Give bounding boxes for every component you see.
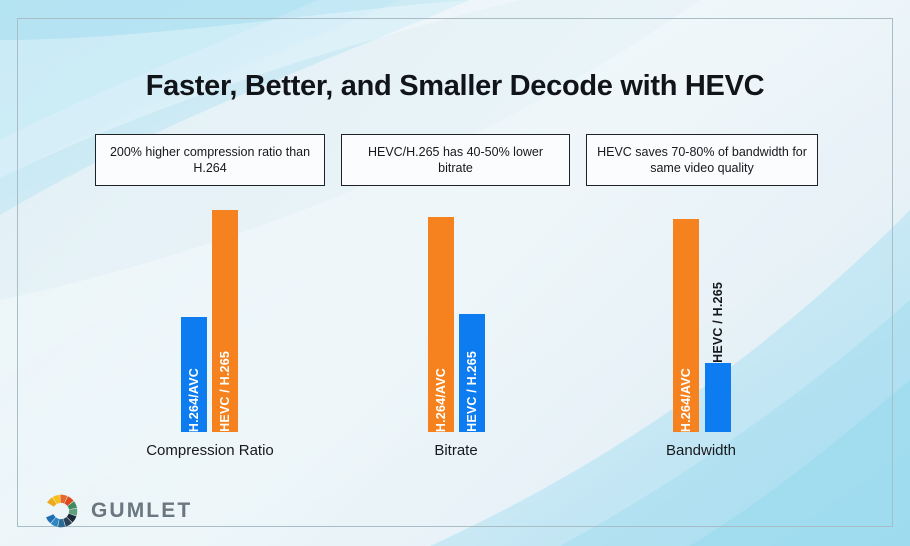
bar-label: HEVC / H.265 xyxy=(465,344,479,432)
bar-h264-avc: H.264/AVC xyxy=(673,219,699,432)
bar-h264-avc: H.264/AVC xyxy=(181,317,207,432)
bar-group-bitrate: H.264/AVC HEVC / H.265 Bitrate xyxy=(366,210,546,480)
bar-label: H.264/AVC xyxy=(187,361,201,432)
bar-group-compression-ratio: H.264/AVC HEVC / H.265 Compression Ratio xyxy=(120,210,300,480)
bar-label: H.264/AVC xyxy=(679,361,693,432)
bar-plot: H.264/AVC HEVC / H.265 xyxy=(120,210,300,432)
gumlet-pinwheel-icon xyxy=(44,494,78,528)
bar-label: H.264/AVC xyxy=(434,361,448,432)
logo-wordmark: GUMLET xyxy=(91,499,192,523)
category-label: Compression Ratio xyxy=(120,442,300,459)
bar-hevc-h265: HEVC / H.265 xyxy=(705,363,731,432)
bar-h264-avc: H.264/AVC xyxy=(428,217,454,432)
bar-hevc-h265: HEVC / H.265 xyxy=(459,314,485,432)
infographic-root: Faster, Better, and Smaller Decode with … xyxy=(0,0,910,546)
gumlet-logo: GUMLET xyxy=(44,494,192,528)
category-label: Bitrate xyxy=(366,442,546,459)
bar-plot: H.264/AVC HEVC / H.265 xyxy=(611,210,791,432)
bar-label: HEVC / H.265 xyxy=(711,277,725,363)
bar-chart: H.264/AVC HEVC / H.265 Compression Ratio… xyxy=(0,0,910,546)
bar-plot: H.264/AVC HEVC / H.265 xyxy=(366,210,546,432)
bar-group-bandwidth: H.264/AVC HEVC / H.265 Bandwidth xyxy=(611,210,791,480)
bar-label: HEVC / H.265 xyxy=(218,344,232,432)
bar-hevc-h265: HEVC / H.265 xyxy=(212,210,238,432)
category-label: Bandwidth xyxy=(611,442,791,459)
